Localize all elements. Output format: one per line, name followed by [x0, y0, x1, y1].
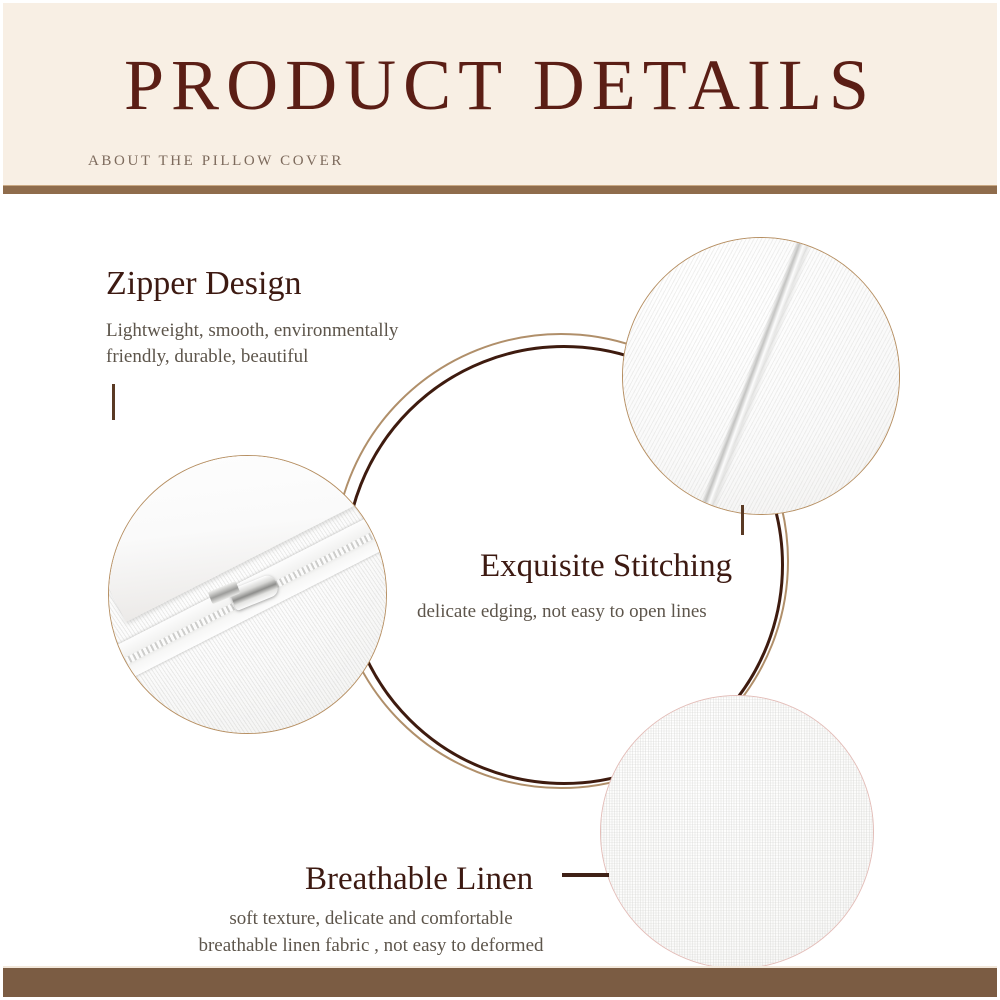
stitching-closeup-photo [622, 237, 900, 515]
stitching-fabric-texture [623, 238, 899, 514]
zipper-description-line-2: friendly, durable, beautiful [106, 344, 398, 370]
linen-texture-photo [600, 695, 874, 969]
header-divider-rule [3, 185, 997, 194]
stitching-heading: Exquisite Stitching [480, 545, 732, 587]
stitching-tick-marker [741, 505, 744, 535]
zipper-description: Lightweight, smooth, environmentally fri… [106, 318, 398, 370]
linen-description-line-1: soft texture, delicate and comfortable [186, 905, 556, 932]
linen-dash-connector [562, 873, 609, 877]
linen-description: soft texture, delicate and comfortable b… [186, 905, 556, 959]
header-band: PRODUCT DETAILS ABOUT THE PILLOW COVER [3, 3, 997, 185]
page-subtitle: ABOUT THE PILLOW COVER [88, 153, 344, 170]
zipper-description-line-1: Lightweight, smooth, environmentally [106, 318, 398, 344]
product-details-infographic: PRODUCT DETAILS ABOUT THE PILLOW COVER Z… [0, 0, 1000, 1000]
zipper-tick-marker [112, 384, 115, 420]
footer-divider-rule [3, 966, 997, 997]
linen-weave-texture [601, 696, 873, 968]
linen-description-line-2: breathable linen fabric , not easy to de… [186, 932, 556, 959]
zipper-closeup-photo [108, 455, 387, 734]
linen-heading: Breathable Linen [305, 858, 533, 900]
page-title: PRODUCT DETAILS [3, 47, 997, 123]
zipper-heading: Zipper Design [106, 263, 301, 305]
stitching-description: delicate edging, not easy to open lines [417, 599, 707, 625]
